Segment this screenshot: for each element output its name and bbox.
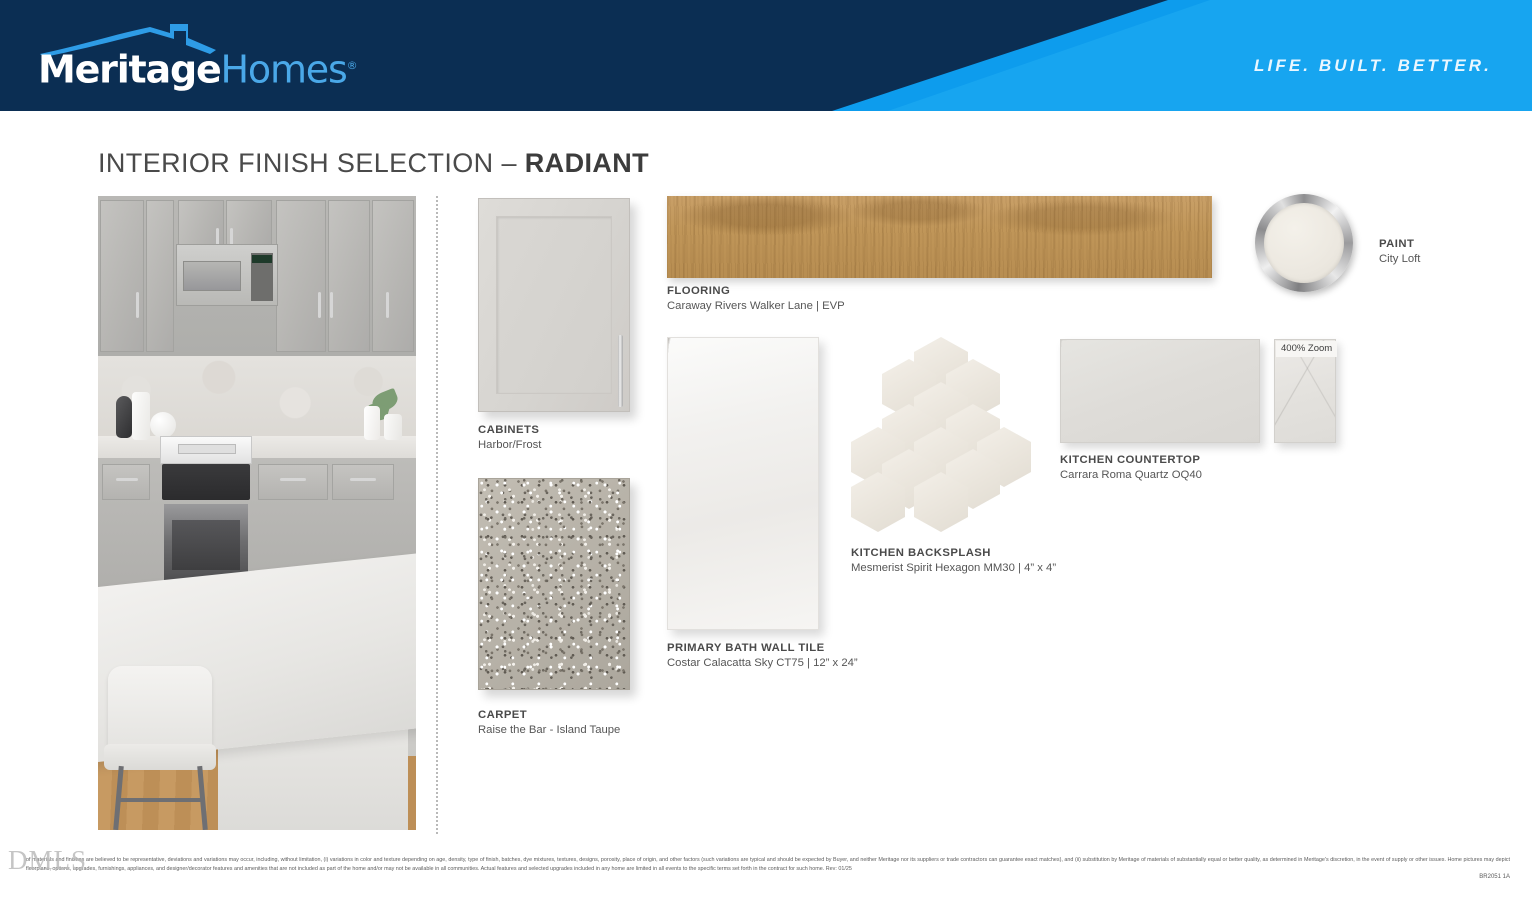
carpet-swatch [478, 478, 630, 690]
kitchen-countertop-swatch [1060, 339, 1260, 443]
primary-bath-wall-tile-swatch [667, 337, 819, 630]
drawer-pull [116, 478, 138, 481]
countertop-label-title: KITCHEN COUNTERTOP [1060, 453, 1202, 468]
kitchen-range [160, 414, 252, 588]
logo-wordmark: MeritageHomes® [38, 46, 358, 90]
flooring-label: FLOORING Caraway Rivers Walker Lane | EV… [667, 284, 845, 314]
logo-meritage-text: Meritage [38, 48, 221, 92]
meritage-homes-logo: MeritageHomes® [38, 24, 338, 86]
kitchen-microwave [176, 244, 278, 306]
paint-swatch [1255, 194, 1353, 292]
kitchen-upper-door [328, 200, 370, 352]
flooring-label-detail: Caraway Rivers Walker Lane | EVP [667, 299, 845, 314]
drawer-pull [280, 478, 306, 481]
logo-registered-mark: ® [347, 59, 358, 72]
range-display [178, 444, 236, 454]
bath-tile-label-detail: Costar Calacatta Sky CT75 | 12” x 24” [667, 656, 858, 671]
paint-label-title: PAINT [1379, 237, 1420, 252]
decor-vase-white [384, 414, 402, 440]
logo-homes-text: Homes [221, 48, 347, 92]
cabinet-panel-inset [496, 216, 612, 394]
kitchen-photo [98, 196, 416, 830]
decor-vase-dark [116, 396, 132, 438]
flooring-swatch [667, 196, 1212, 278]
cabinet-pull [136, 292, 139, 318]
backsplash-label-detail: Mesmerist Spirit Hexagon MM30 | 4” x 4” [851, 561, 1056, 576]
oven-window [172, 520, 240, 570]
kitchen-drawer [258, 464, 328, 500]
kitchen-upper-door [146, 200, 174, 352]
page-title-prefix: INTERIOR FINISH SELECTION – [98, 148, 525, 178]
cabinets-label-title: CABINETS [478, 423, 541, 438]
barstool-back [108, 666, 212, 752]
decor-vase-tall [132, 392, 150, 440]
kitchen-drawer [102, 464, 150, 500]
paint-color-fill [1264, 203, 1344, 283]
cabinet-bar-pull [618, 335, 623, 407]
cabinets-label-detail: Harbor/Frost [478, 438, 541, 453]
range-cooktop [162, 464, 250, 500]
decor-vase-white [364, 406, 380, 440]
barstool-footrest [116, 798, 204, 802]
kitchen-upper-door [276, 200, 326, 352]
kitchen-countertop-label: KITCHEN COUNTERTOP Carrara Roma Quartz O… [1060, 453, 1202, 483]
document-code: BR2051 1A [1479, 874, 1510, 880]
carpet-label-title: CARPET [478, 708, 620, 723]
finish-selection-page: MeritageHomes® LIFE. BUILT. BETTER. INTE… [0, 0, 1532, 899]
page-title: INTERIOR FINISH SELECTION – RADIANT [98, 148, 649, 179]
kitchen-backsplash-label: KITCHEN BACKSPLASH Mesmerist Spirit Hexa… [851, 546, 1056, 576]
backsplash-label-title: KITCHEN BACKSPLASH [851, 546, 1056, 561]
page-title-collection: RADIANT [525, 148, 649, 178]
paint-label-detail: City Loft [1379, 252, 1420, 267]
microwave-window [183, 261, 241, 291]
kitchen-countertop-zoom-swatch: 400% Zoom [1274, 339, 1336, 443]
bath-tile-label-title: PRIMARY BATH WALL TILE [667, 641, 858, 656]
drawer-pull [350, 478, 376, 481]
countertop-label-detail: Carrara Roma Quartz OQ40 [1060, 468, 1202, 483]
cabinet-pull [318, 292, 321, 318]
cabinets-swatch [478, 198, 630, 412]
kitchen-backsplash-swatch [851, 337, 1031, 533]
kitchen-barstool [104, 666, 222, 830]
kitchen-upper-door [100, 200, 144, 352]
carpet-label: CARPET Raise the Bar - Island Taupe [478, 708, 620, 738]
vertical-dotted-divider [436, 196, 438, 834]
footer-disclaimer: of materials and finishes are believed t… [26, 856, 1510, 874]
disclaimer-text: of materials and finishes are believed t… [26, 856, 1510, 874]
brand-tagline: LIFE. BUILT. BETTER. [1254, 56, 1492, 76]
cabinets-label: CABINETS Harbor/Frost [478, 423, 541, 453]
kitchen-drawer [332, 464, 394, 500]
microwave-display [252, 255, 272, 263]
zoom-badge: 400% Zoom [1276, 341, 1337, 357]
kitchen-upper-door [372, 200, 414, 352]
cabinet-pull [386, 292, 389, 318]
cabinet-pull [330, 292, 333, 318]
primary-bath-wall-tile-label: PRIMARY BATH WALL TILE Costar Calacatta … [667, 641, 858, 671]
flooring-label-title: FLOORING [667, 284, 845, 299]
paint-label: PAINT City Loft [1379, 237, 1420, 267]
carpet-label-detail: Raise the Bar - Island Taupe [478, 723, 620, 738]
page-header: MeritageHomes® LIFE. BUILT. BETTER. [0, 0, 1532, 111]
